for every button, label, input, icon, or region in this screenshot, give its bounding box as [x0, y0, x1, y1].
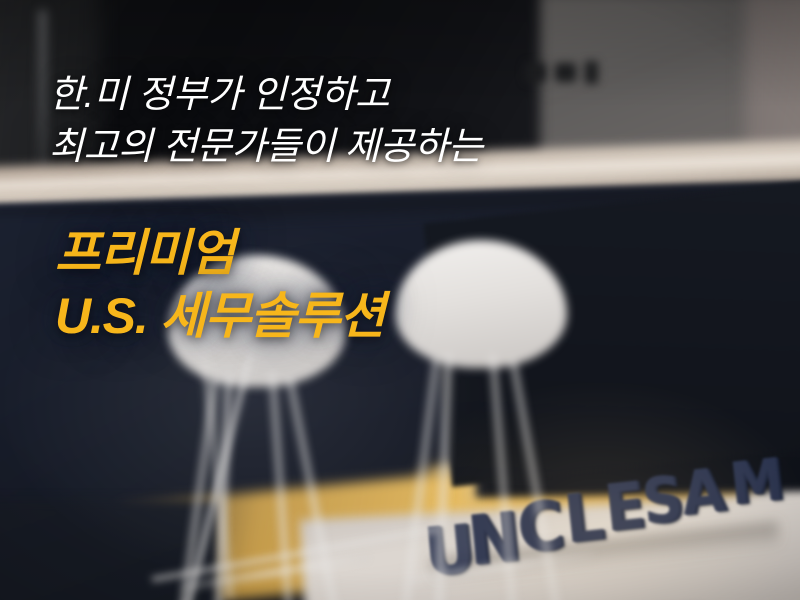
sign-letter: S	[640, 473, 685, 529]
cabinet-left-edge	[38, 10, 47, 190]
sign-letter: E	[602, 480, 646, 538]
stool-leg	[435, 355, 451, 600]
stool-leg	[403, 359, 439, 600]
sign-letter: L	[562, 488, 605, 547]
background-photo: U N C L E S A M	[0, 0, 800, 600]
stool-seat	[168, 255, 346, 387]
stool-seat	[395, 240, 567, 368]
hero-banner: U N C L E S A M	[0, 0, 800, 600]
sign-letter: A	[679, 465, 726, 520]
sign-letter: M	[728, 455, 785, 509]
stool-leg	[269, 373, 292, 600]
wall-sockets-icon	[525, 60, 621, 86]
